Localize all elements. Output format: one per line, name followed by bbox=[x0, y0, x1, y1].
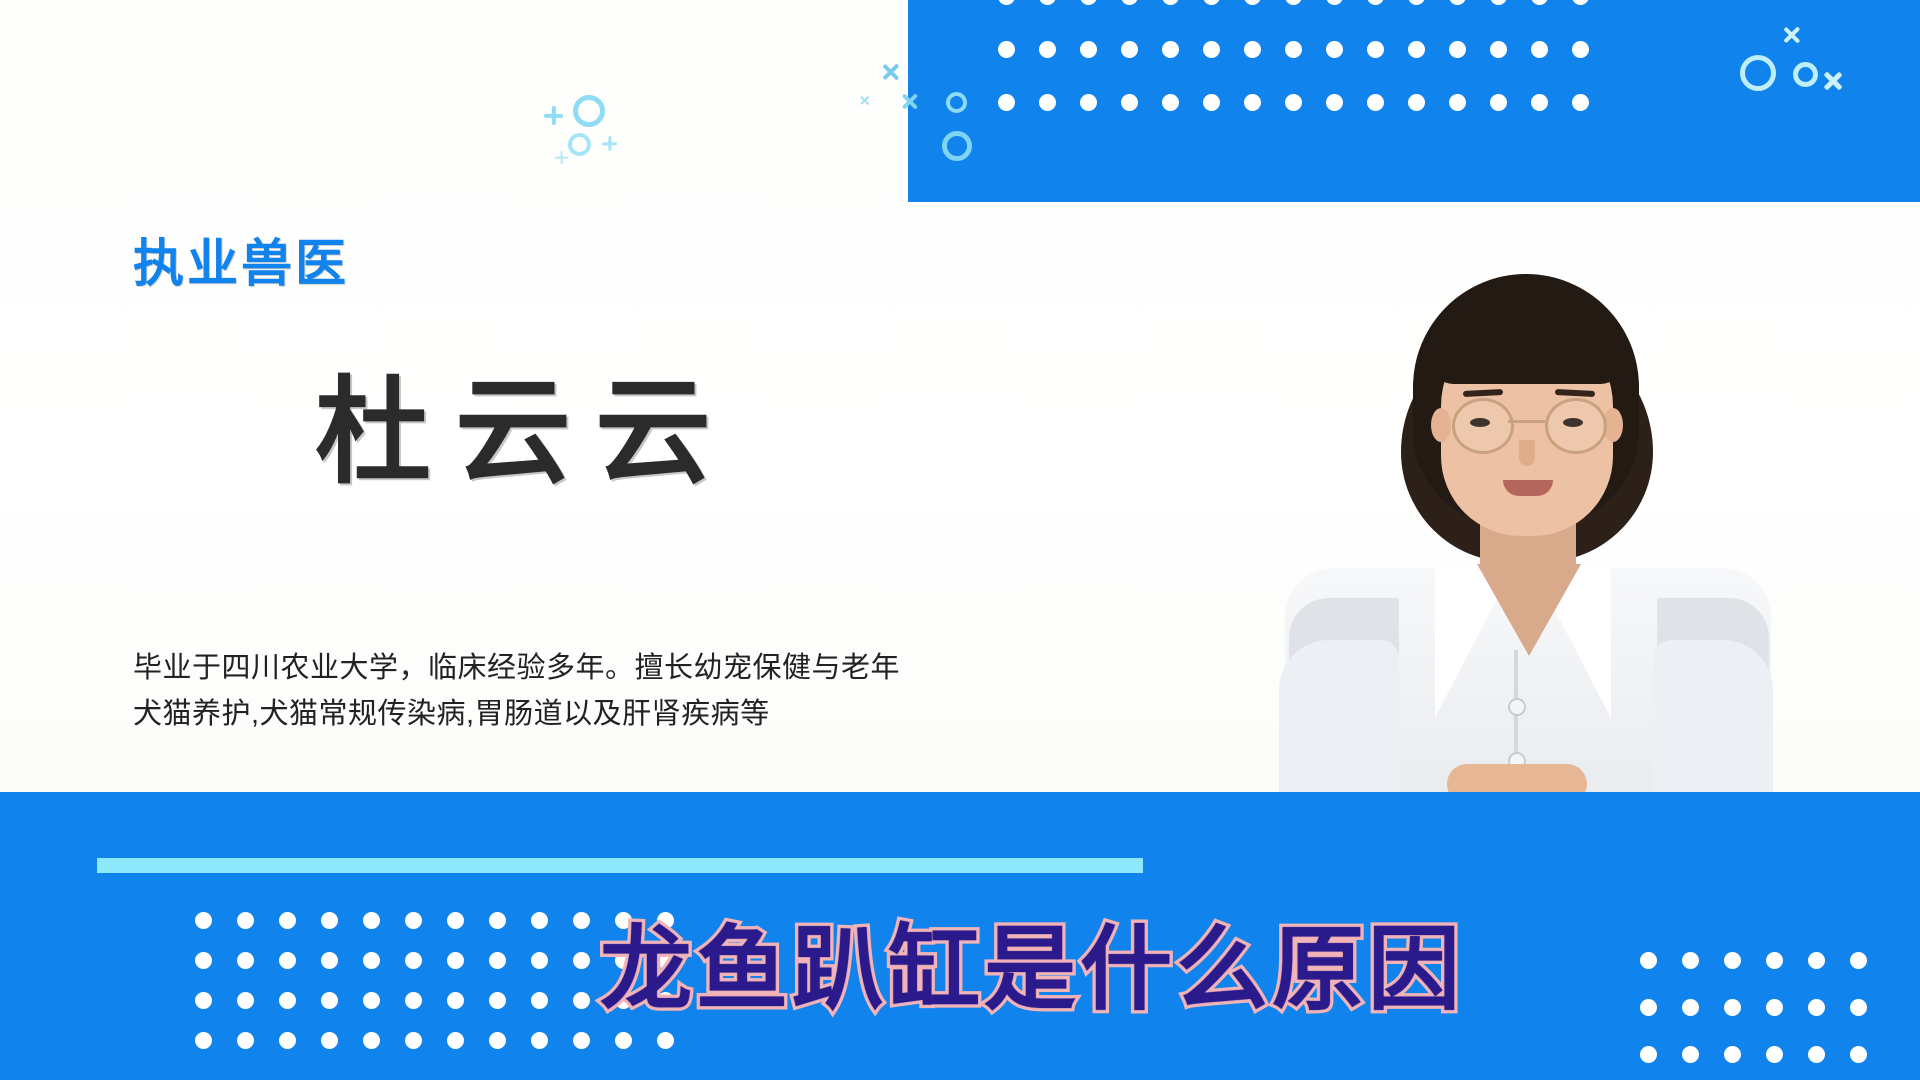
dot bbox=[531, 1032, 548, 1049]
dot bbox=[447, 992, 464, 1009]
dot bbox=[1326, 94, 1343, 111]
dot bbox=[489, 992, 506, 1009]
dot bbox=[1449, 94, 1466, 111]
page-title: 杜云云 bbox=[315, 338, 735, 506]
dot bbox=[1244, 94, 1261, 111]
dot bbox=[1808, 999, 1825, 1016]
arm-right bbox=[1653, 640, 1773, 792]
dot bbox=[1724, 952, 1741, 969]
dot bbox=[1285, 41, 1302, 58]
dot bbox=[1682, 999, 1699, 1016]
dot bbox=[1766, 1046, 1783, 1063]
dot bbox=[1285, 94, 1302, 111]
dot bbox=[1162, 94, 1179, 111]
dot bbox=[1490, 41, 1507, 58]
presenter-photo bbox=[1265, 268, 1785, 792]
dot bbox=[1039, 0, 1056, 5]
dot bbox=[1121, 0, 1138, 5]
dot bbox=[1203, 94, 1220, 111]
dot bbox=[1682, 952, 1699, 969]
hair-bangs bbox=[1431, 308, 1623, 384]
dot bbox=[489, 912, 506, 929]
dot bbox=[1326, 0, 1343, 5]
accent-bar bbox=[97, 858, 1143, 873]
dot bbox=[447, 952, 464, 969]
coat-button-top bbox=[1508, 698, 1526, 716]
dot bbox=[1531, 41, 1548, 58]
dot bbox=[279, 952, 296, 969]
dot bbox=[998, 41, 1015, 58]
dot bbox=[1244, 41, 1261, 58]
dot bbox=[1039, 41, 1056, 58]
glasses-lens-right bbox=[1545, 398, 1607, 454]
dot bbox=[321, 912, 338, 929]
collar-opening bbox=[1477, 564, 1581, 656]
glasses-bridge bbox=[1508, 420, 1545, 423]
dot bbox=[1408, 94, 1425, 111]
dot bbox=[1766, 999, 1783, 1016]
dot bbox=[321, 952, 338, 969]
dot bbox=[1162, 41, 1179, 58]
dot bbox=[531, 952, 548, 969]
biography-line-1: 毕业于四川农业大学，临床经验多年。擅长幼宠保健与老年 bbox=[133, 645, 1013, 691]
dot bbox=[1449, 41, 1466, 58]
dot bbox=[195, 912, 212, 929]
dot bbox=[573, 992, 590, 1009]
dot bbox=[1367, 94, 1384, 111]
dot bbox=[573, 912, 590, 929]
dot bbox=[363, 992, 380, 1009]
dot bbox=[1808, 1046, 1825, 1063]
dot bbox=[573, 952, 590, 969]
dot bbox=[195, 992, 212, 1009]
dot bbox=[1640, 1046, 1657, 1063]
dot bbox=[405, 1032, 422, 1049]
dot bbox=[531, 912, 548, 929]
dot bbox=[363, 952, 380, 969]
dot bbox=[1766, 952, 1783, 969]
dot bbox=[447, 1032, 464, 1049]
dot bbox=[237, 952, 254, 969]
arm-left bbox=[1279, 640, 1399, 792]
hands bbox=[1447, 764, 1587, 792]
dot bbox=[279, 992, 296, 1009]
biography-line-2: 犬猫养护,犬猫常规传染病,胃肠道以及肝肾疾病等 bbox=[133, 691, 1013, 737]
dot bbox=[1640, 952, 1657, 969]
dot bbox=[1203, 0, 1220, 5]
dot bbox=[1121, 41, 1138, 58]
dot bbox=[1531, 94, 1548, 111]
dot bbox=[1850, 999, 1867, 1016]
dot bbox=[1162, 0, 1179, 5]
dot bbox=[531, 992, 548, 1009]
dot bbox=[1724, 1046, 1741, 1063]
dot bbox=[1244, 0, 1261, 5]
dot bbox=[405, 992, 422, 1009]
glasses-lens-left bbox=[1452, 398, 1514, 454]
slide-canvas: 执业兽医 杜云云 毕业于四川农业大学，临床经验多年。擅长幼宠保健与老年 犬猫养护… bbox=[0, 0, 1920, 1080]
dot bbox=[321, 992, 338, 1009]
dot bbox=[998, 94, 1015, 111]
dot bbox=[1203, 41, 1220, 58]
dot bbox=[237, 992, 254, 1009]
dot bbox=[1367, 41, 1384, 58]
dot bbox=[405, 912, 422, 929]
biography-text: 毕业于四川农业大学，临床经验多年。擅长幼宠保健与老年 犬猫养护,犬猫常规传染病,… bbox=[133, 645, 1013, 737]
dot bbox=[195, 952, 212, 969]
dot bbox=[237, 1032, 254, 1049]
dot bbox=[1850, 1046, 1867, 1063]
dot bbox=[615, 1032, 632, 1049]
dot bbox=[363, 912, 380, 929]
dot bbox=[1640, 999, 1657, 1016]
dot bbox=[1080, 94, 1097, 111]
dot bbox=[1682, 1046, 1699, 1063]
top-right-blue-block bbox=[908, 0, 1920, 202]
dot bbox=[1572, 94, 1589, 111]
dot bbox=[279, 1032, 296, 1049]
dot bbox=[237, 912, 254, 929]
dot bbox=[998, 0, 1015, 5]
dot bbox=[1080, 0, 1097, 5]
dot bbox=[1080, 41, 1097, 58]
dot bbox=[447, 912, 464, 929]
dot bbox=[363, 1032, 380, 1049]
dot bbox=[1850, 952, 1867, 969]
dot bbox=[1285, 0, 1302, 5]
dot bbox=[1490, 94, 1507, 111]
dot bbox=[1121, 94, 1138, 111]
dot bbox=[657, 1032, 674, 1049]
dot bbox=[1039, 94, 1056, 111]
dot bbox=[1572, 0, 1589, 5]
dot bbox=[1408, 0, 1425, 5]
dot bbox=[1572, 41, 1589, 58]
ear-left bbox=[1431, 408, 1451, 442]
dot bbox=[1724, 999, 1741, 1016]
nose bbox=[1519, 440, 1535, 466]
dot bbox=[489, 1032, 506, 1049]
dot bbox=[1808, 952, 1825, 969]
dot bbox=[573, 1032, 590, 1049]
dot bbox=[1367, 0, 1384, 5]
role-title: 执业兽医 bbox=[133, 222, 349, 296]
dot bbox=[1531, 0, 1548, 5]
dot bbox=[489, 952, 506, 969]
dot bbox=[195, 1032, 212, 1049]
dot bbox=[279, 912, 296, 929]
dot bbox=[1449, 0, 1466, 5]
dot bbox=[1490, 0, 1507, 5]
dot bbox=[405, 952, 422, 969]
dot bbox=[321, 1032, 338, 1049]
dot bbox=[1326, 41, 1343, 58]
banner-headline: 龙鱼趴缸是什么原因 bbox=[600, 895, 1464, 1028]
dot bbox=[1408, 41, 1425, 58]
